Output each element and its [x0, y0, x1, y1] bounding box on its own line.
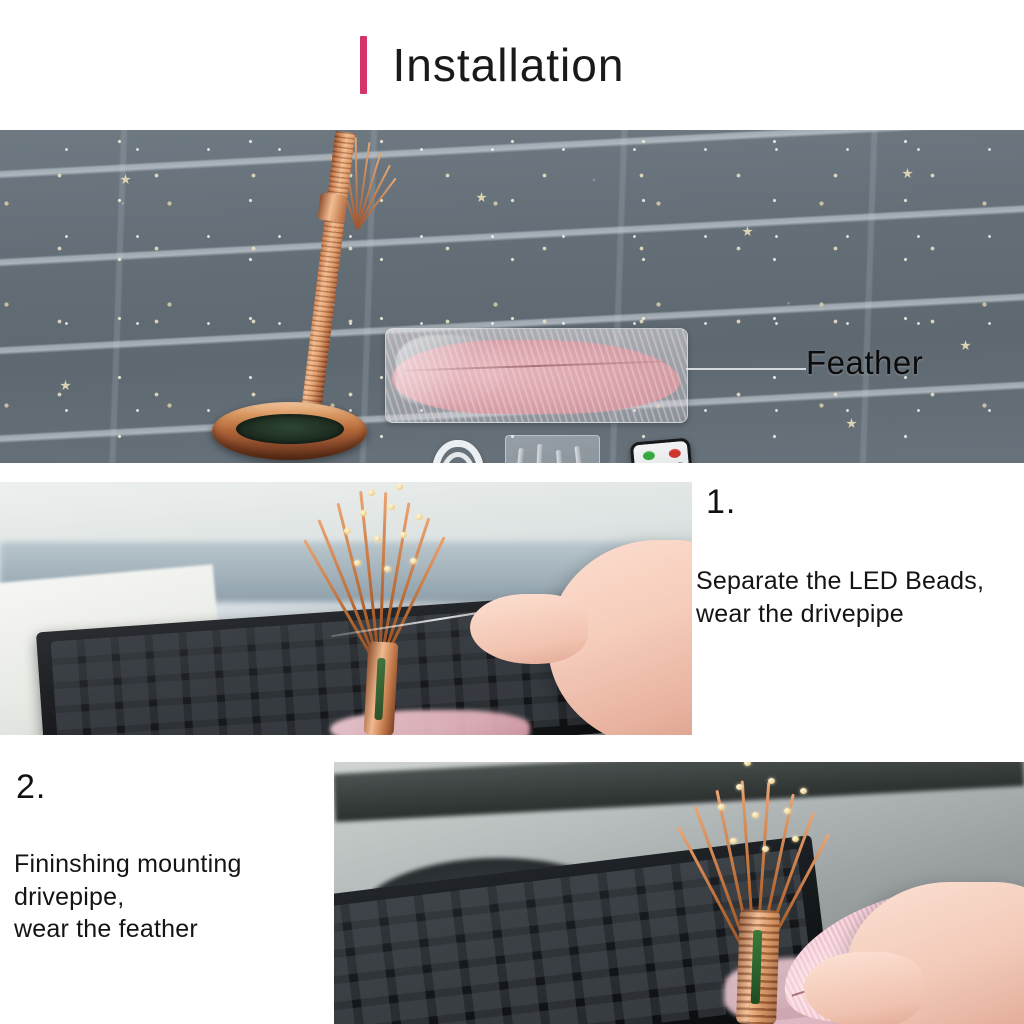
feather-package — [385, 328, 688, 423]
step-2-number: 2. — [16, 768, 46, 807]
leader-line-feather — [686, 368, 806, 370]
finger — [470, 594, 588, 664]
parts-overview-photo: Feather drivepipe Remote Control — [0, 130, 1024, 463]
label-feather: Feather — [806, 344, 923, 382]
thumb — [804, 952, 924, 1024]
drivepipe-package — [505, 435, 600, 463]
step-1-number: 1. — [706, 483, 736, 522]
step-2-text: Fininshing mounting drivepipe, wear the … — [14, 848, 334, 946]
page-title: Installation — [393, 42, 625, 88]
step-2-photo — [334, 762, 1024, 1024]
step-1-photo — [0, 482, 692, 735]
remote-control-device — [630, 438, 697, 463]
page-header: Installation — [0, 0, 1024, 130]
lamp-collar — [317, 192, 347, 222]
title-accent-bar — [360, 36, 367, 94]
installation-guide-page: Installation — [0, 0, 1024, 1024]
lamp-base-inset — [236, 414, 344, 444]
step-1-text: Separate the LED Beads, wear the drivepi… — [696, 565, 1016, 630]
